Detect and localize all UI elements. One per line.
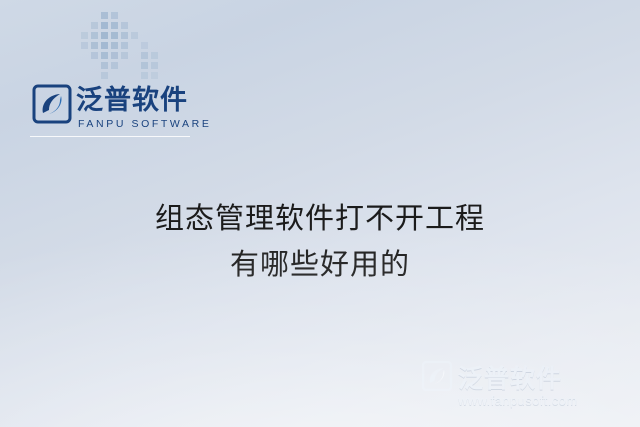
brand-name-cn: 泛普软件 bbox=[76, 84, 188, 116]
watermark-url: www.fanpusoft.com bbox=[458, 393, 578, 408]
page-title: 组态管理软件打不开工程 有哪些好用的 bbox=[0, 195, 640, 287]
brand-logo-block: 泛普软件 FANPU SOFTWARE bbox=[18, 10, 218, 140]
watermark: 泛普软件 www.fanpusoft.com bbox=[420, 357, 630, 419]
brand-name-en: FANPU SOFTWARE bbox=[78, 118, 211, 130]
brand-divider bbox=[30, 136, 190, 137]
pixel-dot-grid-icon bbox=[73, 12, 193, 90]
page-title-line-2: 有哪些好用的 bbox=[0, 241, 640, 287]
page-title-line-1: 组态管理软件打不开工程 bbox=[155, 201, 485, 235]
fanpu-swoosh-logo-icon bbox=[30, 82, 74, 126]
watermark-name-cn: 泛普软件 bbox=[458, 359, 562, 395]
slide-canvas: 泛普软件 FANPU SOFTWARE 组态管理软件打不开工程 有哪些好用的 泛… bbox=[0, 0, 640, 427]
fanpu-swoosh-logo-icon bbox=[420, 359, 454, 393]
